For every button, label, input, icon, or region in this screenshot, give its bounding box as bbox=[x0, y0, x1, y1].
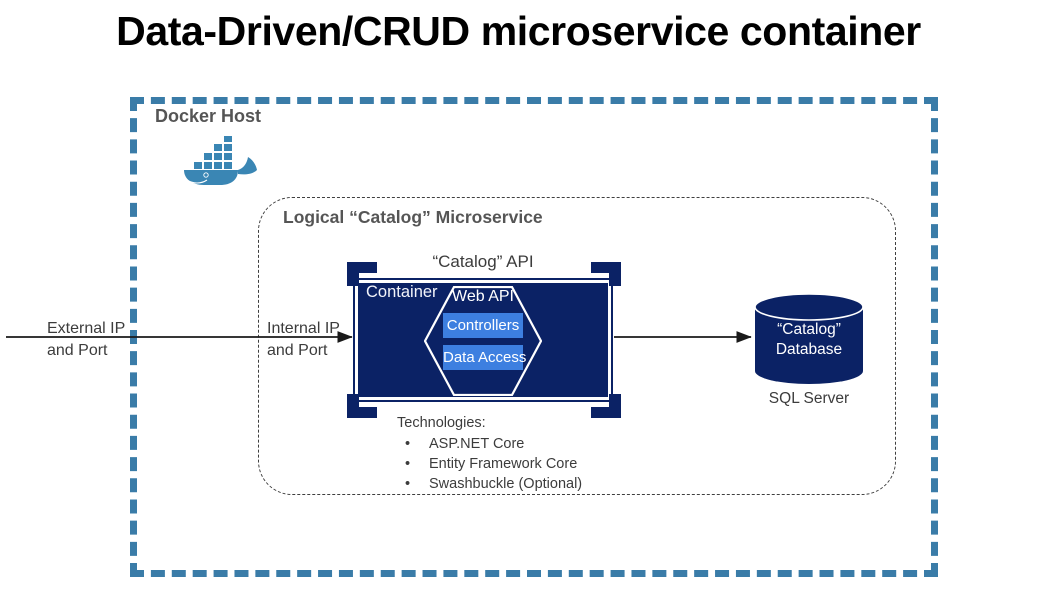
diagram-canvas: Data-Driven/CRUD microservice container … bbox=[0, 0, 1037, 589]
database-label-line1: “Catalog” bbox=[755, 320, 863, 340]
database-label: “Catalog” Database bbox=[755, 320, 863, 360]
controllers-bar: Controllers bbox=[443, 313, 523, 338]
data-access-bar: Data Access bbox=[443, 345, 523, 370]
container-bracket-bottom-right bbox=[591, 394, 621, 418]
container-bracket-top-right bbox=[591, 262, 621, 286]
container-label: Container bbox=[366, 283, 438, 302]
database-label-line2: Database bbox=[755, 340, 863, 360]
container-bracket-bottom-left bbox=[347, 394, 377, 418]
web-api-label: Web API bbox=[424, 288, 542, 306]
